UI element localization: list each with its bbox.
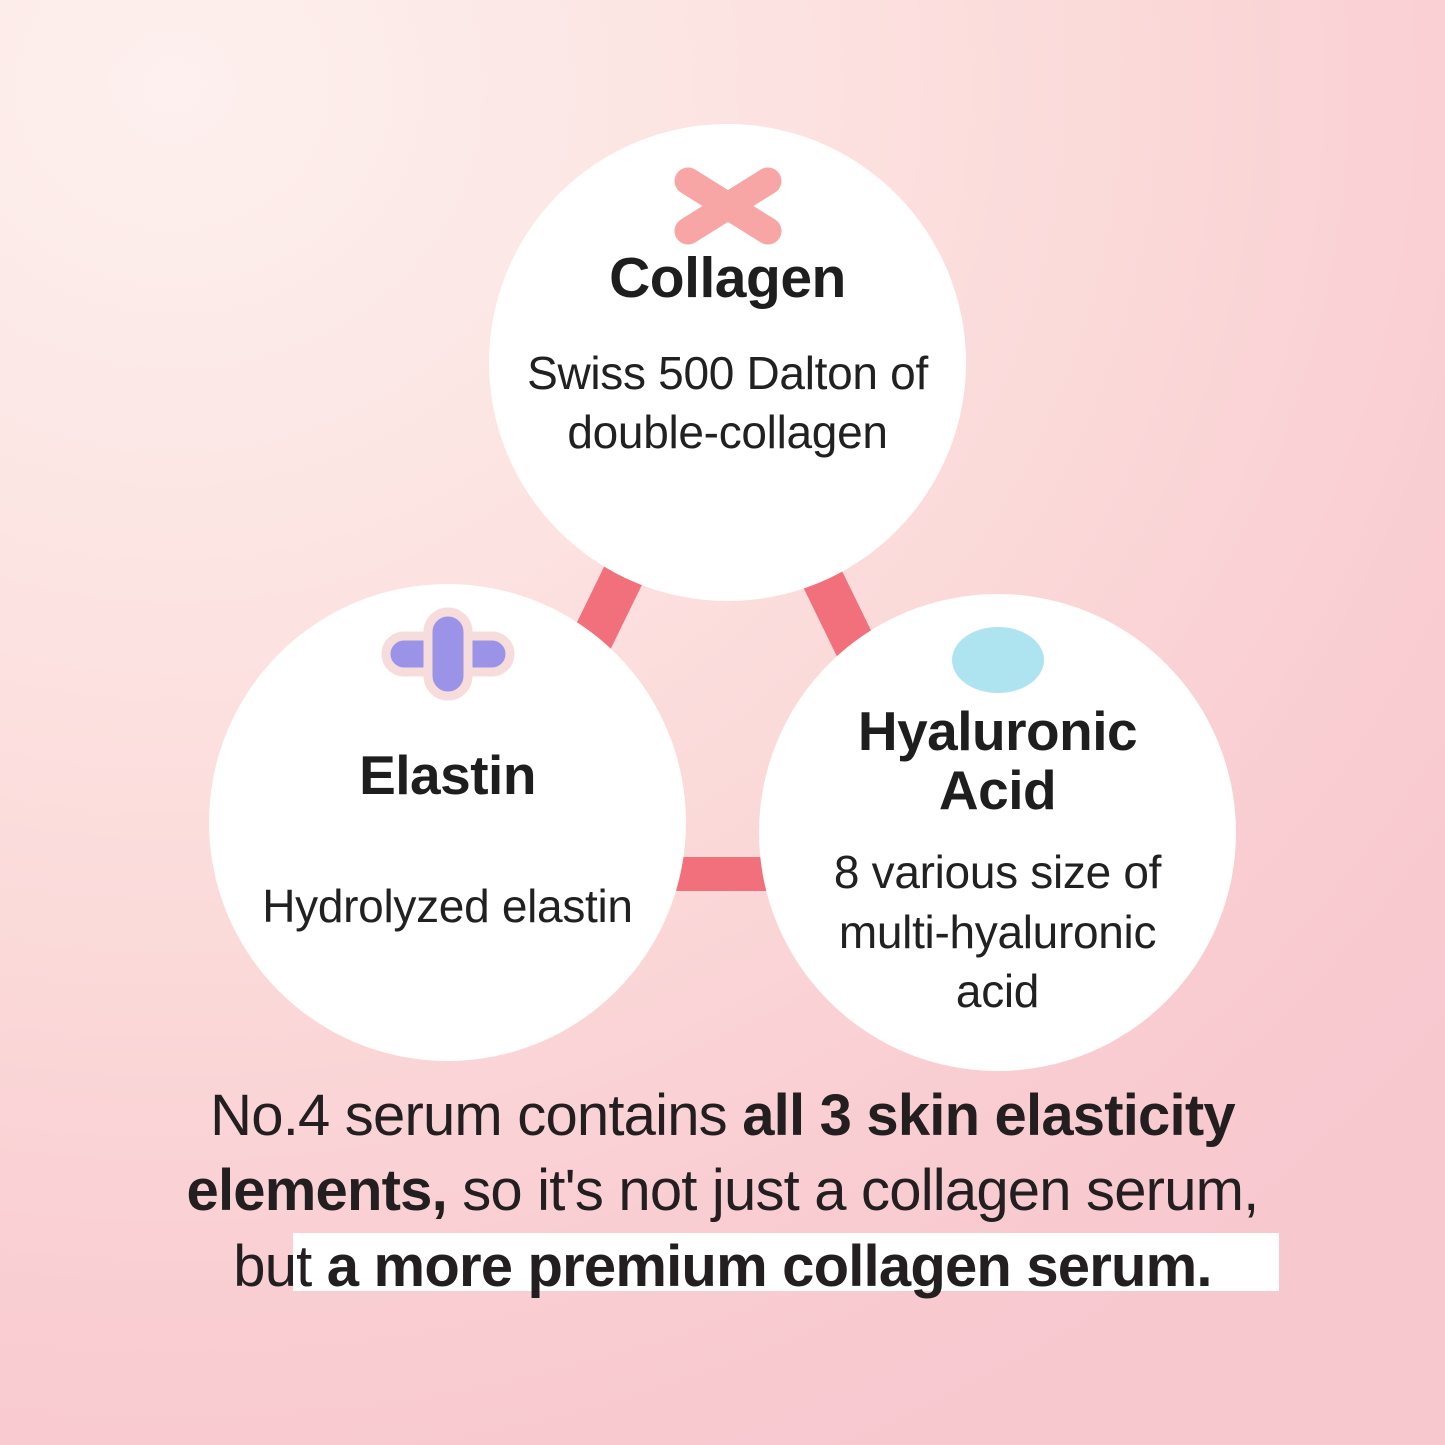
caption-line-2: elements, so it's not just a collagen se… <box>0 1153 1445 1228</box>
infographic-canvas: Collagen Swiss 500 Dalton of double-coll… <box>0 0 1445 1445</box>
collagen-desc-line-1: Swiss 500 Dalton of <box>527 347 928 399</box>
collagen-desc-line-2: double-collagen <box>567 406 887 458</box>
card-hyaluronic-acid: Hyaluronic Acid 8 various size of multi-… <box>759 594 1236 1071</box>
card-title-collagen: Collagen <box>609 248 846 310</box>
x-mark-icon <box>672 165 784 247</box>
card-title-elastin: Elastin <box>359 746 536 805</box>
hyaluronic-title-line-2: Acid <box>939 759 1056 821</box>
card-elastin: Elastin Hydrolyzed elastin <box>209 584 686 1061</box>
hyaluronic-desc-line-1: 8 various size of <box>834 846 1161 898</box>
caption-line-2-regular: so it's not just a collagen serum, <box>447 1158 1259 1223</box>
card-collagen: Collagen Swiss 500 Dalton of double-coll… <box>489 124 966 601</box>
caption-block: No.4 serum contains all 3 skin elasticit… <box>0 1078 1445 1304</box>
elastin-icon-container <box>378 608 518 700</box>
caption-line-1: No.4 serum contains all 3 skin elasticit… <box>0 1078 1445 1153</box>
card-desc-elastin: Hydrolyzed elastin <box>228 877 668 937</box>
caption-line-3-regular: but <box>233 1234 327 1299</box>
ellipse-icon <box>950 624 1046 696</box>
hyaluronic-title-line-1: Hyaluronic <box>858 700 1137 762</box>
hyaluronic-desc-line-3: acid <box>956 965 1039 1017</box>
hyaluronic-desc-line-2: multi-hyaluronic <box>839 906 1156 958</box>
card-desc-collagen: Swiss 500 Dalton of double-collagen <box>518 344 938 464</box>
collagen-icon-container <box>672 160 784 252</box>
caption-line-2-bold: elements, <box>187 1158 447 1223</box>
caption-line-3: but a more premium collagen serum. <box>0 1229 1445 1304</box>
card-desc-hyaluronic-acid: 8 various size of multi-hyaluronic acid <box>798 843 1198 1022</box>
caption-line-1-regular: No.4 serum contains <box>210 1083 742 1148</box>
caption-line-1-bold: all 3 skin elasticity <box>742 1083 1235 1148</box>
card-title-hyaluronic-acid: Hyaluronic Acid <box>858 702 1137 821</box>
plus-cross-icon <box>378 606 518 702</box>
caption-line-3-bold: a more premium collagen serum. <box>327 1234 1212 1299</box>
hyaluronic-icon-container <box>950 616 1046 704</box>
